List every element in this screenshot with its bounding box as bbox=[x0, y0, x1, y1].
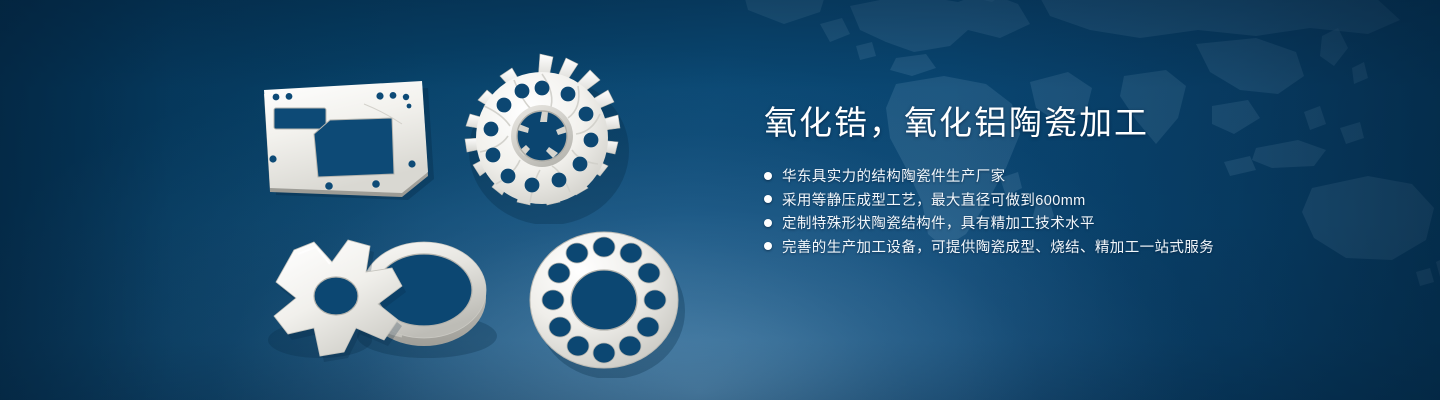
list-item-label: 华东具实力的结构陶瓷件生产厂家 bbox=[782, 165, 1006, 186]
page-title: 氧化锆，氧化铝陶瓷加工 bbox=[764, 106, 1364, 139]
list-item-label: 完善的生产加工设备，可提供陶瓷成型、烧结、精加工一站式服务 bbox=[782, 236, 1214, 257]
list-item-label: 定制特殊形状陶瓷结构件，具有精加工技术水平 bbox=[782, 212, 1095, 233]
bullet-dot-icon bbox=[764, 242, 772, 250]
list-item: 采用等静压成型工艺，最大直径可做到600mm bbox=[764, 188, 1364, 212]
bullet-dot-icon bbox=[764, 195, 772, 203]
banner-text-block: 氧化锆，氧化铝陶瓷加工 华东具实力的结构陶瓷件生产厂家 采用等静压成型工艺，最大… bbox=[764, 106, 1364, 274]
list-item: 华东具实力的结构陶瓷件生产厂家 bbox=[764, 164, 1364, 188]
feature-list: 华东具实力的结构陶瓷件生产厂家 采用等静压成型工艺，最大直径可做到600mm 定… bbox=[764, 164, 1364, 258]
list-item: 定制特殊形状陶瓷结构件，具有精加工技术水平 bbox=[764, 211, 1364, 235]
hero-banner: 氧化锆，氧化铝陶瓷加工 华东具实力的结构陶瓷件生产厂家 采用等静压成型工艺，最大… bbox=[0, 0, 1440, 400]
bullet-dot-icon bbox=[764, 172, 772, 180]
list-item: 完善的生产加工设备，可提供陶瓷成型、烧结、精加工一站式服务 bbox=[764, 235, 1364, 259]
bullet-dot-icon bbox=[764, 219, 772, 227]
list-item-label: 采用等静压成型工艺，最大直径可做到600mm bbox=[782, 189, 1086, 210]
